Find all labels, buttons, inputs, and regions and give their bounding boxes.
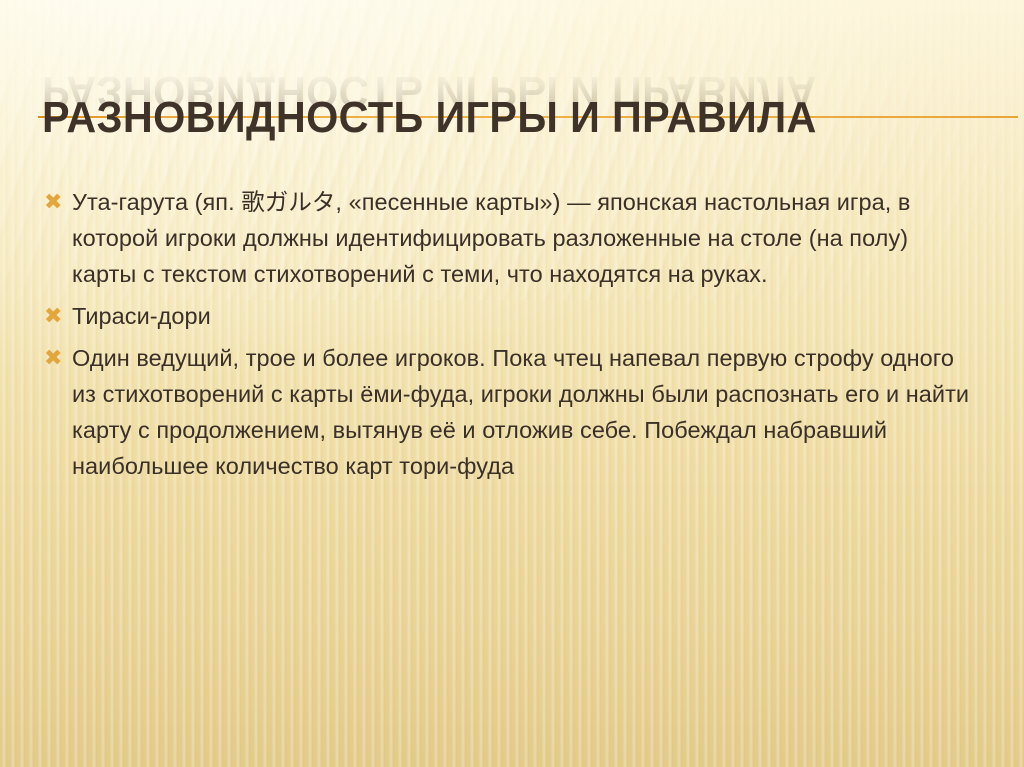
list-item: ✖ Тираси-дори — [38, 298, 972, 334]
bullet-cross-icon: ✖ — [38, 340, 72, 376]
bullet-text-uta-garuta: Ута-гарута (яп. 歌ガルタ, «песенные карты») … — [72, 184, 972, 292]
list-item: ✖ Один ведущий, трое и более игроков. По… — [38, 340, 972, 484]
list-item: ✖ Ута-гарута (яп. 歌ガルタ, «песенные карты»… — [38, 184, 972, 292]
bullet-cross-icon: ✖ — [38, 184, 72, 220]
bullet-cross-icon: ✖ — [38, 298, 72, 334]
presentation-slide: Разновидность игры и правила Разновиднос… — [0, 0, 1024, 767]
slide-body: ✖ Ута-гарута (яп. 歌ガルタ, «песенные карты»… — [38, 184, 972, 490]
page-title: Разновидность игры и правила — [42, 91, 817, 145]
slide-title-block: Разновидность игры и правила Разновиднос… — [0, 62, 1024, 158]
bullet-text-tirasi-dori: Тираси-дори — [72, 298, 972, 334]
bullet-text-rules: Один ведущий, трое и более игроков. Пока… — [72, 340, 972, 484]
